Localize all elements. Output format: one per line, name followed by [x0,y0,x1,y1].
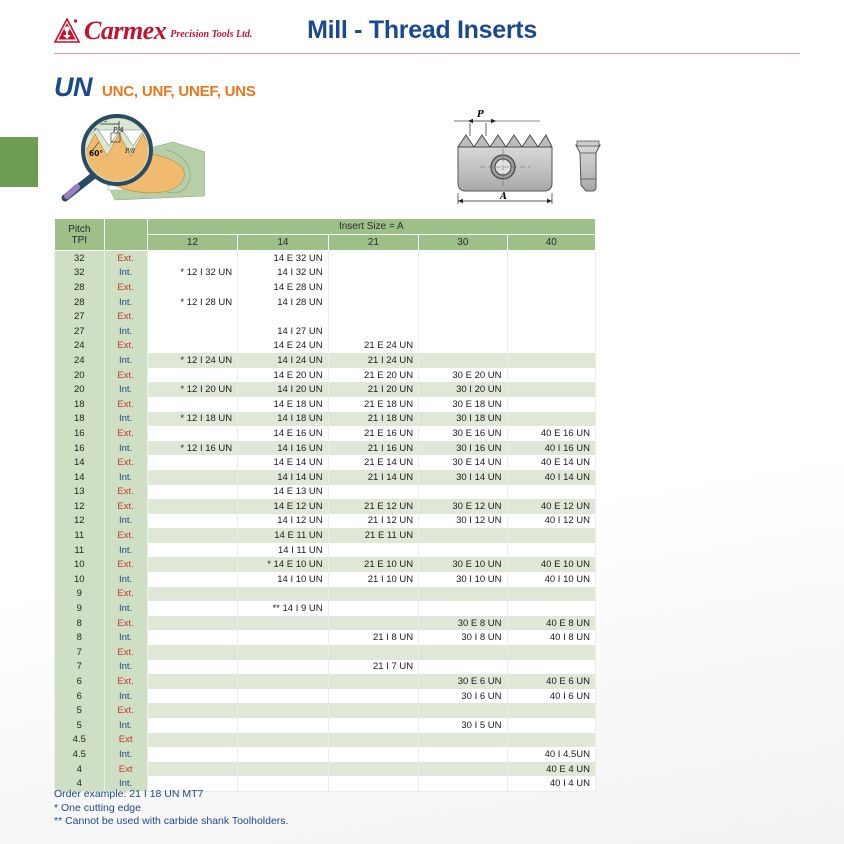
cell-insert-21: 21 E 11 UN [328,528,419,543]
cell-pitch: 18 [55,397,105,412]
cell-insert-14 [238,660,329,675]
cell-insert-40 [507,412,595,427]
table-row: 20Ext.14 E 20 UN21 E 20 UN30 E 20 UN [55,368,596,383]
table-row: 27Int.14 I 27 UN [55,324,596,339]
page-title: Mill - Thread Inserts [0,16,844,45]
table-row: 4.5Ext [55,733,596,748]
cell-thread-type: Ext [104,762,147,777]
cell-insert-21 [328,733,419,748]
cell-insert-14: 14 E 16 UN [238,426,329,441]
order-example-note: Order example: 21 I 18 UN MT7 [54,788,288,802]
cell-thread-type: Int. [104,382,147,397]
cell-insert-30 [419,601,507,616]
cell-insert-40: 40 I 12 UN [507,514,595,529]
cell-insert-30 [419,776,507,791]
cell-insert-21: 21 E 20 UN [328,368,419,383]
cell-insert-40 [507,703,595,718]
cell-thread-type: Ext. [104,426,147,441]
cell-thread-type: Int. [104,630,147,645]
cell-insert-12 [147,733,238,748]
cell-insert-12 [147,309,238,324]
cell-insert-12: * 12 I 16 UN [147,441,238,456]
cell-thread-type: Int. [104,572,147,587]
cell-insert-21 [328,616,419,631]
table-row: 7Int.21 I 7 UN [55,660,596,675]
cell-insert-12 [147,674,238,689]
cell-insert-30: 30 I 10 UN [419,572,507,587]
cell-thread-type: Ext. [104,557,147,572]
cell-insert-21 [328,295,419,310]
svg-text:P: P [476,110,484,120]
cell-pitch: 7 [55,645,105,660]
cell-thread-type: Int. [104,689,147,704]
cell-pitch: 14 [55,470,105,485]
cell-insert-30: 30 E 16 UN [419,426,507,441]
cell-pitch: 4.5 [55,733,105,748]
cell-insert-30 [419,703,507,718]
table-row: 27Ext. [55,309,596,324]
table-row: 6Ext.30 E 6 UN40 E 6 UN [55,674,596,689]
header-divider [54,53,800,54]
cell-thread-type: Int. [104,412,147,427]
cell-insert-21: 21 E 10 UN [328,557,419,572]
cell-pitch: 8 [55,616,105,631]
cell-insert-30 [419,324,507,339]
cell-thread-type: Int. [104,514,147,529]
cell-insert-12 [147,514,238,529]
cell-thread-type: Int. [104,601,147,616]
cell-insert-40: 40 E 14 UN [507,455,595,470]
cell-insert-30 [419,280,507,295]
cell-insert-40 [507,660,595,675]
cell-thread-type: Ext. [104,703,147,718]
cell-insert-30 [419,660,507,675]
table-row: 24Ext.14 E 24 UN21 E 24 UN [55,339,596,354]
cell-insert-21 [328,280,419,295]
cell-insert-21: 21 E 24 UN [328,339,419,354]
table-head-row-top: Pitch TPI Insert Size = A [55,219,596,235]
cell-insert-14: 14 I 32 UN [238,266,329,281]
cell-thread-type: Int. [104,353,147,368]
cell-insert-14: * 14 E 10 UN [238,557,329,572]
cell-insert-14 [238,630,329,645]
cell-pitch: 28 [55,295,105,310]
column-header-size-21: 21 [328,235,419,251]
cell-thread-type: Ext. [104,455,147,470]
insert-dimension-illustration: P A [440,105,620,210]
cell-insert-40: 40 I 4.5UN [507,747,595,762]
cell-insert-21: 21 I 7 UN [328,660,419,675]
cell-thread-type: Ext. [104,280,147,295]
cell-thread-type: Ext. [104,528,147,543]
cell-insert-40: 40 E 10 UN [507,557,595,572]
table-row: 11Int.14 I 11 UN [55,543,596,558]
cell-insert-21 [328,251,419,266]
cell-thread-type: Ext. [104,251,147,266]
table-row: 12Ext.14 E 12 UN21 E 12 UN30 E 12 UN40 E… [55,499,596,514]
cell-pitch: 11 [55,543,105,558]
table-row: 28Int.* 12 I 28 UN14 I 28 UN [55,295,596,310]
cell-pitch: 12 [55,514,105,529]
cell-thread-type: Ext. [104,616,147,631]
cell-insert-14: 14 E 24 UN [238,339,329,354]
cell-insert-14: 14 I 12 UN [238,514,329,529]
cell-thread-type: Ext. [104,368,147,383]
cell-insert-30: 30 I 6 UN [419,689,507,704]
cell-insert-40 [507,339,595,354]
cell-insert-30 [419,485,507,500]
cell-insert-14: 14 E 12 UN [238,499,329,514]
cell-thread-type: Int. [104,441,147,456]
cell-insert-14: 14 E 14 UN [238,455,329,470]
cell-insert-21 [328,674,419,689]
cell-insert-21: 21 E 18 UN [328,397,419,412]
cell-insert-21 [328,747,419,762]
cell-insert-12 [147,645,238,660]
cell-insert-14 [238,309,329,324]
cell-insert-40: 40 E 4 UN [507,762,595,777]
cell-pitch: 4 [55,762,105,777]
cell-insert-14: 14 I 27 UN [238,324,329,339]
cell-insert-14: 14 I 16 UN [238,441,329,456]
cell-insert-21 [328,587,419,602]
cell-thread-type: Int. [104,266,147,281]
cell-insert-21: 21 E 14 UN [328,455,419,470]
cell-insert-21 [328,645,419,660]
pitch-label-line2: TPI [55,235,104,246]
cell-insert-14: 14 E 20 UN [238,368,329,383]
table-row: 7Ext. [55,645,596,660]
cell-insert-40: 40 I 14 UN [507,470,595,485]
cell-pitch: 6 [55,689,105,704]
cell-thread-type: Int. [104,718,147,733]
cell-insert-12: * 12 I 24 UN [147,353,238,368]
cell-insert-21: 21 I 18 UN [328,412,419,427]
cell-insert-40: 40 I 10 UN [507,572,595,587]
column-header-type [104,219,147,251]
cell-insert-12 [147,703,238,718]
cell-insert-14: 14 E 32 UN [238,251,329,266]
cell-insert-14: 14 I 11 UN [238,543,329,558]
cell-insert-21: 21 I 16 UN [328,441,419,456]
cell-insert-40 [507,251,595,266]
cell-insert-21 [328,309,419,324]
cell-thread-type: Ext. [104,309,147,324]
thread-profile-magnifier-illustration: P P/4 P/8 60° [55,100,205,205]
cell-insert-40 [507,718,595,733]
cell-insert-14 [238,587,329,602]
cell-insert-12: * 12 I 32 UN [147,266,238,281]
cell-pitch: 16 [55,441,105,456]
cell-pitch: 5 [55,703,105,718]
cell-insert-30 [419,587,507,602]
thread-standard-variants: UNC, UNF, UNEF, UNS [102,83,256,100]
cell-insert-30 [419,266,507,281]
table-row: 8Ext.30 E 8 UN40 E 8 UN [55,616,596,631]
cell-insert-30 [419,339,507,354]
table-row: 12Int.14 I 12 UN21 I 12 UN30 I 12 UN40 I… [55,514,596,529]
insert-spec-table-wrapper: Pitch TPI Insert Size = A 12 14 21 30 40… [54,218,596,792]
cell-pitch: 12 [55,499,105,514]
cell-insert-21: 21 I 24 UN [328,353,419,368]
cell-insert-21 [328,601,419,616]
table-row: 16Int.* 12 I 16 UN14 I 16 UN21 I 16 UN30… [55,441,596,456]
table-row: 11Ext.14 E 11 UN21 E 11 UN [55,528,596,543]
cell-thread-type: Ext. [104,674,147,689]
cell-insert-40 [507,266,595,281]
cell-insert-14: 14 E 28 UN [238,280,329,295]
cell-insert-12 [147,324,238,339]
page-root: Carmex Precision Tools Ltd. Mill - Threa… [0,0,844,844]
cell-insert-12 [147,470,238,485]
table-row: 8Int.21 I 8 UN30 I 8 UN40 I 8 UN [55,630,596,645]
cell-thread-type: Ext. [104,499,147,514]
cell-insert-40 [507,280,595,295]
thread-standard-heading: UN UNC, UNF, UNEF, UNS [54,72,256,103]
cell-insert-21 [328,689,419,704]
table-row: 10Int.14 I 10 UN21 I 10 UN30 I 10 UN40 I… [55,572,596,587]
cell-insert-12: * 12 I 28 UN [147,295,238,310]
cell-insert-12 [147,251,238,266]
cell-insert-30: 30 E 14 UN [419,455,507,470]
cell-insert-30: 30 I 12 UN [419,514,507,529]
cell-insert-30 [419,528,507,543]
cell-insert-40 [507,295,595,310]
cell-thread-type: Ext. [104,587,147,602]
cell-insert-12 [147,557,238,572]
cell-insert-14: 14 E 11 UN [238,528,329,543]
cell-insert-40 [507,543,595,558]
cell-insert-14: ** 14 I 9 UN [238,601,329,616]
table-row: 32Ext.14 E 32 UN [55,251,596,266]
cell-insert-14: 14 I 10 UN [238,572,329,587]
svg-text:P/4: P/4 [112,126,124,134]
cell-insert-21 [328,266,419,281]
table-row: 18Int.* 12 I 18 UN14 I 18 UN21 I 18 UN30… [55,412,596,427]
cell-insert-12 [147,689,238,704]
cell-insert-30: 30 I 14 UN [419,470,507,485]
cell-insert-21 [328,703,419,718]
table-row: 5Int.30 I 5 UN [55,718,596,733]
cell-insert-40 [507,528,595,543]
cell-insert-12 [147,660,238,675]
cell-insert-30 [419,733,507,748]
cell-pitch: 10 [55,572,105,587]
cell-insert-12 [147,718,238,733]
cell-insert-12 [147,339,238,354]
cell-pitch: 20 [55,368,105,383]
cell-insert-12 [147,587,238,602]
cell-pitch: 11 [55,528,105,543]
column-header-size-12: 12 [147,235,238,251]
cell-insert-12 [147,499,238,514]
cell-insert-30 [419,309,507,324]
table-row: 4Ext40 E 4 UN [55,762,596,777]
cell-insert-14 [238,718,329,733]
table-row: 4.5Int.40 I 4.5UN [55,747,596,762]
cell-insert-40: 40 E 8 UN [507,616,595,631]
table-head: Pitch TPI Insert Size = A 12 14 21 30 40 [55,219,596,251]
cell-pitch: 7 [55,660,105,675]
cell-pitch: 5 [55,718,105,733]
cell-pitch: 16 [55,426,105,441]
cell-thread-type: Ext. [104,485,147,500]
table-row: 13Ext.14 E 13 UN [55,485,596,500]
cell-insert-30: 30 E 12 UN [419,499,507,514]
cell-insert-12 [147,630,238,645]
cell-insert-14: 14 I 28 UN [238,295,329,310]
table-row: 32Int.* 12 I 32 UN14 I 32 UN [55,266,596,281]
cell-insert-12 [147,572,238,587]
cell-insert-30: 30 I 18 UN [419,412,507,427]
cell-insert-40 [507,309,595,324]
cell-insert-40: 40 E 12 UN [507,499,595,514]
cell-insert-30: 30 E 10 UN [419,557,507,572]
table-row: 5Ext. [55,703,596,718]
cell-insert-30: 30 I 5 UN [419,718,507,733]
cell-pitch: 14 [55,455,105,470]
cell-insert-12 [147,368,238,383]
cell-insert-40: 40 I 16 UN [507,441,595,456]
cell-insert-30: 30 I 8 UN [419,630,507,645]
cell-insert-12 [147,762,238,777]
cell-insert-40 [507,353,595,368]
cell-insert-21: 21 I 20 UN [328,382,419,397]
cell-thread-type: Int. [104,747,147,762]
column-header-size-14: 14 [238,235,329,251]
column-header-insert-size: Insert Size = A [147,219,595,235]
cell-insert-30 [419,762,507,777]
cell-insert-30: 30 I 20 UN [419,382,507,397]
cell-insert-12 [147,455,238,470]
cell-insert-21: 21 E 16 UN [328,426,419,441]
cell-pitch: 24 [55,353,105,368]
cell-insert-30: 30 I 16 UN [419,441,507,456]
cell-pitch: 28 [55,280,105,295]
cell-insert-30: 30 E 6 UN [419,674,507,689]
table-row: 18Ext.14 E 18 UN21 E 18 UN30 E 18 UN [55,397,596,412]
cell-thread-type: Ext. [104,397,147,412]
cell-insert-14: 14 E 18 UN [238,397,329,412]
cell-insert-40: 40 I 8 UN [507,630,595,645]
cell-insert-21: 21 I 14 UN [328,470,419,485]
cell-insert-30: 30 E 20 UN [419,368,507,383]
cell-pitch: 8 [55,630,105,645]
cell-insert-21 [328,762,419,777]
cell-thread-type: Int. [104,543,147,558]
cell-insert-12 [147,280,238,295]
cell-insert-40 [507,397,595,412]
section-color-tab [0,137,38,187]
column-header-size-30: 30 [419,235,507,251]
cell-insert-12: * 12 I 18 UN [147,412,238,427]
table-row: 24Int.* 12 I 24 UN14 I 24 UN21 I 24 UN [55,353,596,368]
cell-insert-14 [238,747,329,762]
cell-insert-12: * 12 I 20 UN [147,382,238,397]
cell-insert-14: 14 I 14 UN [238,470,329,485]
cell-insert-14 [238,762,329,777]
cell-insert-21: 21 I 8 UN [328,630,419,645]
cell-insert-14 [238,645,329,660]
page-header: Carmex Precision Tools Ltd. Mill - Threa… [0,0,844,62]
cell-pitch: 18 [55,412,105,427]
cell-thread-type: Ext. [104,645,147,660]
cell-pitch: 4.5 [55,747,105,762]
table-row: 16Ext.14 E 16 UN21 E 16 UN30 E 16 UN40 E… [55,426,596,441]
pitch-label-line1: Pitch [55,224,104,235]
cell-insert-30: 30 E 18 UN [419,397,507,412]
cell-insert-40 [507,733,595,748]
cell-insert-40 [507,324,595,339]
cell-insert-30 [419,295,507,310]
cell-insert-21 [328,543,419,558]
svg-text:A: A [499,192,507,202]
cell-insert-40: 40 I 4 UN [507,776,595,791]
cell-pitch: 9 [55,601,105,616]
cell-thread-type: Int. [104,324,147,339]
cell-insert-21: 21 I 12 UN [328,514,419,529]
table-body: 32Ext.14 E 32 UN32Int.* 12 I 32 UN14 I 3… [55,251,596,792]
footnote-carbide-shank: ** Cannot be used with carbide shank Too… [54,815,288,829]
cell-insert-12 [147,747,238,762]
cell-thread-type: Ext [104,733,147,748]
cell-insert-40: 40 E 16 UN [507,426,595,441]
table-row: 10Ext.* 14 E 10 UN21 E 10 UN30 E 10 UN40… [55,557,596,572]
table-row: 20Int.* 12 I 20 UN14 I 20 UN21 I 20 UN30… [55,382,596,397]
cell-insert-12 [147,426,238,441]
cell-insert-14 [238,689,329,704]
cell-pitch: 20 [55,382,105,397]
cell-pitch: 32 [55,266,105,281]
insert-spec-table: Pitch TPI Insert Size = A 12 14 21 30 40… [54,218,596,792]
cell-insert-30 [419,645,507,660]
cell-insert-14 [238,733,329,748]
cell-insert-12 [147,528,238,543]
cell-insert-14: 14 I 18 UN [238,412,329,427]
cell-pitch: 32 [55,251,105,266]
cell-insert-40 [507,601,595,616]
cell-thread-type: Int. [104,470,147,485]
cell-insert-40 [507,645,595,660]
cell-pitch: 24 [55,339,105,354]
table-row: 9Int.** 14 I 9 UN [55,601,596,616]
cell-insert-12 [147,397,238,412]
cell-insert-30 [419,353,507,368]
cell-insert-14 [238,703,329,718]
cell-insert-21 [328,718,419,733]
cell-thread-type: Int. [104,660,147,675]
cell-insert-12 [147,616,238,631]
cell-insert-21 [328,776,419,791]
cell-insert-21: 21 I 10 UN [328,572,419,587]
cell-insert-40 [507,368,595,383]
cell-thread-type: Ext. [104,339,147,354]
cell-insert-30 [419,747,507,762]
table-row: 28Ext.14 E 28 UN [55,280,596,295]
cell-insert-21 [328,485,419,500]
cell-insert-30: 30 E 8 UN [419,616,507,631]
footnotes: Order example: 21 I 18 UN MT7 * One cutt… [54,788,288,829]
cell-thread-type: Int. [104,295,147,310]
footnote-one-cutting-edge: * One cutting edge [54,802,288,816]
cell-insert-30 [419,251,507,266]
column-header-pitch: Pitch TPI [55,219,105,251]
cell-insert-14: 14 E 13 UN [238,485,329,500]
cell-insert-21 [328,324,419,339]
cell-insert-30 [419,543,507,558]
cell-insert-40: 40 E 6 UN [507,674,595,689]
svg-text:60°: 60° [89,149,103,158]
